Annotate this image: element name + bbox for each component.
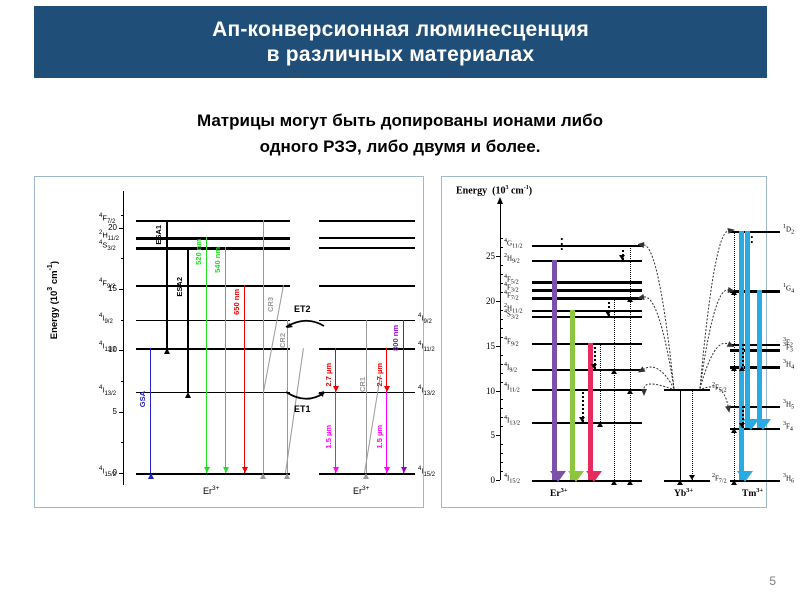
y-tick-label: 15 xyxy=(472,341,495,351)
excitation-arrow xyxy=(742,344,744,366)
energy-level-right-upper xyxy=(319,247,415,248)
transition-label: 520 nm xyxy=(195,239,203,265)
y-tick xyxy=(496,391,500,392)
y-minor-tick xyxy=(500,453,503,454)
transition-arrow xyxy=(403,320,404,473)
er-energy-level-label: 4S3/2 xyxy=(504,309,519,321)
transition-arrow xyxy=(187,247,189,392)
energy-level-label: 4I15/2 xyxy=(99,466,116,478)
er-energy-level xyxy=(532,310,642,312)
energy-level-right-upper xyxy=(319,220,415,221)
excitation-arrowhead xyxy=(731,480,737,485)
excitation-arrowhead xyxy=(611,480,617,485)
subtitle-line-2: одного РЗЭ, либо двумя и более. xyxy=(0,134,800,160)
energy-level-label: 4S3/2 xyxy=(99,240,116,252)
excitation-arrowhead xyxy=(611,369,617,374)
y-tick-label: 5 xyxy=(93,407,117,416)
tm-energy-level xyxy=(730,366,780,368)
energy-transfer-arc xyxy=(638,375,680,408)
transition-label: ESA2 xyxy=(176,277,184,297)
transition-arrow xyxy=(335,392,336,473)
transition-arrowhead xyxy=(242,467,248,473)
er-energy-level-label: 4F7/2 xyxy=(504,290,519,302)
y-tick-label: 25 xyxy=(472,251,495,261)
transition-arrowhead xyxy=(363,473,369,479)
excitation-arrow xyxy=(630,245,631,298)
energy-level xyxy=(136,220,290,221)
er-energy-level-label: 4I11/2 xyxy=(504,382,520,394)
excitation-arrowhead xyxy=(605,311,611,316)
excitation-arrow xyxy=(614,369,615,480)
transition-label: ESA1 xyxy=(155,225,163,245)
ion-label-tm: Tm3+ xyxy=(742,487,763,499)
transition-arrowhead xyxy=(384,467,390,473)
er-energy-level-label: 4I9/2 xyxy=(504,362,517,374)
slide-title-line-2: в различных материалах xyxy=(267,42,535,67)
y-minor-tick xyxy=(500,274,503,275)
excitation-arrowhead xyxy=(627,297,633,302)
y-minor-tick xyxy=(500,471,503,472)
y-minor-tick xyxy=(500,337,503,338)
energy-level-label: 4I13/2 xyxy=(99,385,116,397)
ion-label-er-left: Er3+ xyxy=(203,485,219,496)
transition-arrowhead xyxy=(148,473,154,479)
er-energy-level xyxy=(532,245,642,247)
energy-level-right xyxy=(319,392,415,393)
page-number: 5 xyxy=(769,574,776,588)
excitation-arrowhead xyxy=(579,417,585,422)
er-energy-level-label: 2H9/2 xyxy=(504,253,520,265)
transition-arrowhead xyxy=(164,348,170,354)
right-energy-level-diagram: Energy (103 cm-1)05101520254G11/22H9/24F… xyxy=(441,176,767,508)
y-minor-tick xyxy=(121,215,124,216)
left-y-axis xyxy=(123,191,124,485)
excitation-arrow xyxy=(600,343,601,422)
emission-arrow xyxy=(757,290,762,428)
er-energy-level xyxy=(532,297,642,299)
emission-arrowhead xyxy=(737,471,753,482)
y-minor-tick xyxy=(500,283,503,284)
y-minor-tick xyxy=(500,355,503,356)
y-tick-label: 10 xyxy=(472,386,495,396)
transition-label: 650 nm xyxy=(233,289,241,315)
y-tick-label: 20 xyxy=(472,296,495,306)
tm-energy-level-label: 3F3 xyxy=(783,342,793,354)
y-minor-tick xyxy=(500,382,503,383)
energy-level xyxy=(136,392,290,393)
energy-level-right-upper xyxy=(319,285,415,286)
tm-energy-level-label: 3H4 xyxy=(783,359,794,371)
y-minor-tick xyxy=(500,444,503,445)
transition-arrow xyxy=(263,220,264,473)
excitation-arrowhead xyxy=(619,255,625,260)
excitation-arrow xyxy=(630,389,631,480)
transition-label: GSA xyxy=(139,391,147,407)
ion-label-er-right: Er3+ xyxy=(353,485,369,496)
y-minor-tick xyxy=(121,442,124,443)
slide-subtitle: Матрицы могут быть допированы ионами либ… xyxy=(0,108,800,160)
transition-arrowhead xyxy=(223,467,229,473)
energy-level-label: 4F7/2 xyxy=(99,213,115,225)
excitation-arrow xyxy=(614,297,615,369)
er-energy-level-label: 4I15/2 xyxy=(504,473,520,485)
transition-label: CR1 xyxy=(359,377,367,392)
excitation-arrowhead xyxy=(739,423,745,428)
excitation-arrowhead xyxy=(627,389,633,394)
vertical-dots-tm: ... xyxy=(750,226,754,241)
y-minor-tick xyxy=(500,247,503,248)
y-minor-tick xyxy=(500,426,503,427)
emission-arrowhead xyxy=(568,471,584,482)
right-y-axis xyxy=(500,203,501,480)
tm-energy-level xyxy=(730,406,780,408)
energy-level-right-upper xyxy=(319,237,415,238)
transition-arrow xyxy=(166,220,168,348)
transition-arrowhead xyxy=(260,473,266,479)
transition-label: CR3 xyxy=(267,297,275,312)
y-tick xyxy=(119,289,123,290)
energy-level-right xyxy=(319,348,415,350)
transition-label: 1.5 µm xyxy=(325,425,333,449)
transition-arrowhead xyxy=(333,467,339,473)
y-minor-tick xyxy=(500,310,503,311)
y-tick-label: 0 xyxy=(472,475,495,485)
y-minor-tick xyxy=(500,408,503,409)
transition-arrow xyxy=(206,237,207,473)
emission-arrowhead xyxy=(755,419,771,430)
energy-level-label: 4I9/2 xyxy=(99,313,113,325)
transition-arrowhead xyxy=(185,392,191,398)
vertical-dots-er: ... xyxy=(560,233,564,248)
energy-level-label-right: 4I13/2 xyxy=(418,385,435,397)
energy-level-label-right: 4I15/2 xyxy=(418,466,435,478)
transition-label: 2.7 µm xyxy=(376,363,384,387)
energy-level-right xyxy=(319,320,415,321)
emission-arrowhead xyxy=(586,471,602,482)
y-tick xyxy=(119,228,123,229)
emission-arrow xyxy=(570,310,575,480)
energy-transfer-label-et1: ET1 xyxy=(294,404,311,414)
y-tick xyxy=(496,435,500,436)
emission-arrow xyxy=(745,231,750,428)
slide-title-banner: Ап-конверсионная люминесценция в различн… xyxy=(34,6,767,78)
y-minor-tick xyxy=(500,364,503,365)
transition-arrow xyxy=(225,247,226,473)
y-minor-tick xyxy=(121,381,124,382)
y-minor-tick xyxy=(500,319,503,320)
y-tick xyxy=(119,412,123,413)
tm-energy-level-label: 3H5 xyxy=(783,399,794,411)
y-tick xyxy=(496,346,500,347)
tm-energy-level xyxy=(730,231,780,233)
right-axis-title: Energy (103 cm-1) xyxy=(456,185,532,196)
ion-label-yb: Yb3+ xyxy=(674,487,693,499)
y-minor-tick xyxy=(500,399,503,400)
transition-arrow xyxy=(150,348,151,473)
y-tick xyxy=(496,301,500,302)
excitation-arrowhead xyxy=(591,364,597,369)
transition-label: 1.5 µm xyxy=(376,425,384,449)
emission-arrow xyxy=(552,260,557,480)
excitation-arrow xyxy=(734,428,735,480)
energy-level xyxy=(136,320,290,321)
tm-energy-level xyxy=(730,349,780,351)
energy-level xyxy=(136,285,290,286)
energy-level-label: 4I11/2 xyxy=(99,341,116,353)
emission-arrowhead xyxy=(550,471,566,482)
y-minor-tick xyxy=(121,258,124,259)
slide-title-line-1: Ап-конверсионная люминесценция xyxy=(212,17,589,42)
transition-arrowhead xyxy=(204,467,210,473)
energy-transfer-arc xyxy=(696,375,736,425)
energy-level xyxy=(136,473,290,475)
y-minor-tick xyxy=(500,373,503,374)
left-axis-title: Energy (103 cm-1) xyxy=(47,261,60,339)
tm-energy-level-label: 3H6 xyxy=(783,473,794,485)
er-energy-level xyxy=(532,289,642,291)
y-minor-tick xyxy=(500,292,503,293)
transition-label: 2.7 µm xyxy=(325,363,333,387)
er-energy-level-label: 4F9/2 xyxy=(504,336,519,348)
excitation-arrowhead xyxy=(597,422,603,427)
right-y-axis-arrowhead xyxy=(497,197,503,204)
y-minor-tick xyxy=(500,328,503,329)
y-minor-tick xyxy=(500,238,503,239)
excitation-arrowhead xyxy=(689,475,695,480)
tm-energy-level-label: 1G4 xyxy=(783,283,794,295)
y-tick xyxy=(496,256,500,257)
tm-energy-level-label: 1D2 xyxy=(783,224,794,236)
er-energy-level-label: 4I13/2 xyxy=(504,415,520,427)
transition-label: 540 nm xyxy=(214,247,222,273)
transition-arrow xyxy=(244,285,245,473)
y-tick xyxy=(119,473,123,474)
energy-level xyxy=(136,348,290,350)
transition-arrow xyxy=(386,392,387,473)
ion-label-er: Er3+ xyxy=(550,487,568,499)
excitation-arrow xyxy=(630,297,631,388)
tm-energy-level xyxy=(730,290,780,292)
er-energy-level xyxy=(532,389,642,391)
y-tick xyxy=(119,350,123,351)
excitation-arrow xyxy=(692,389,693,480)
excitation-arrowhead xyxy=(731,428,737,433)
er-energy-level xyxy=(532,260,642,262)
energy-transfer-arc xyxy=(283,315,329,336)
energy-level-label-right: 4I9/2 xyxy=(418,313,432,325)
excitation-arrowhead xyxy=(739,366,745,371)
tm-energy-level-label: 3F4 xyxy=(783,421,793,433)
er-energy-level-label: 4G11/2 xyxy=(504,238,523,250)
energy-transfer-label-et2: ET2 xyxy=(294,304,311,314)
er-energy-level xyxy=(532,422,642,424)
transition-label: 800 nm xyxy=(392,325,400,351)
subtitle-line-1: Матрицы могут быть допированы ионами либ… xyxy=(0,108,800,134)
left-energy-level-diagram: Energy (103 cm-1)051015204F7/22H11/24S3/… xyxy=(34,176,424,508)
y-minor-tick xyxy=(500,417,503,418)
y-minor-tick xyxy=(500,462,503,463)
er-energy-level xyxy=(532,343,642,345)
energy-level-label: 4F9/2 xyxy=(99,278,115,290)
energy-level-label-right: 4I11/2 xyxy=(418,341,435,353)
transition-arrowhead xyxy=(401,467,407,473)
y-tick-label: 5 xyxy=(472,430,495,440)
er-energy-level xyxy=(532,281,642,283)
y-minor-tick xyxy=(121,320,124,321)
tm-energy-level xyxy=(730,344,780,346)
yb-energy-level-label: 2F7/2 xyxy=(712,473,727,485)
excitation-arrowhead xyxy=(627,480,633,485)
y-minor-tick xyxy=(500,265,503,266)
yb-energy-level xyxy=(664,480,710,482)
y-tick xyxy=(496,480,500,481)
er-energy-level xyxy=(532,369,642,371)
transition-arrowhead xyxy=(284,473,290,479)
excitation-arrowhead xyxy=(677,480,683,485)
er-energy-level xyxy=(532,316,642,318)
